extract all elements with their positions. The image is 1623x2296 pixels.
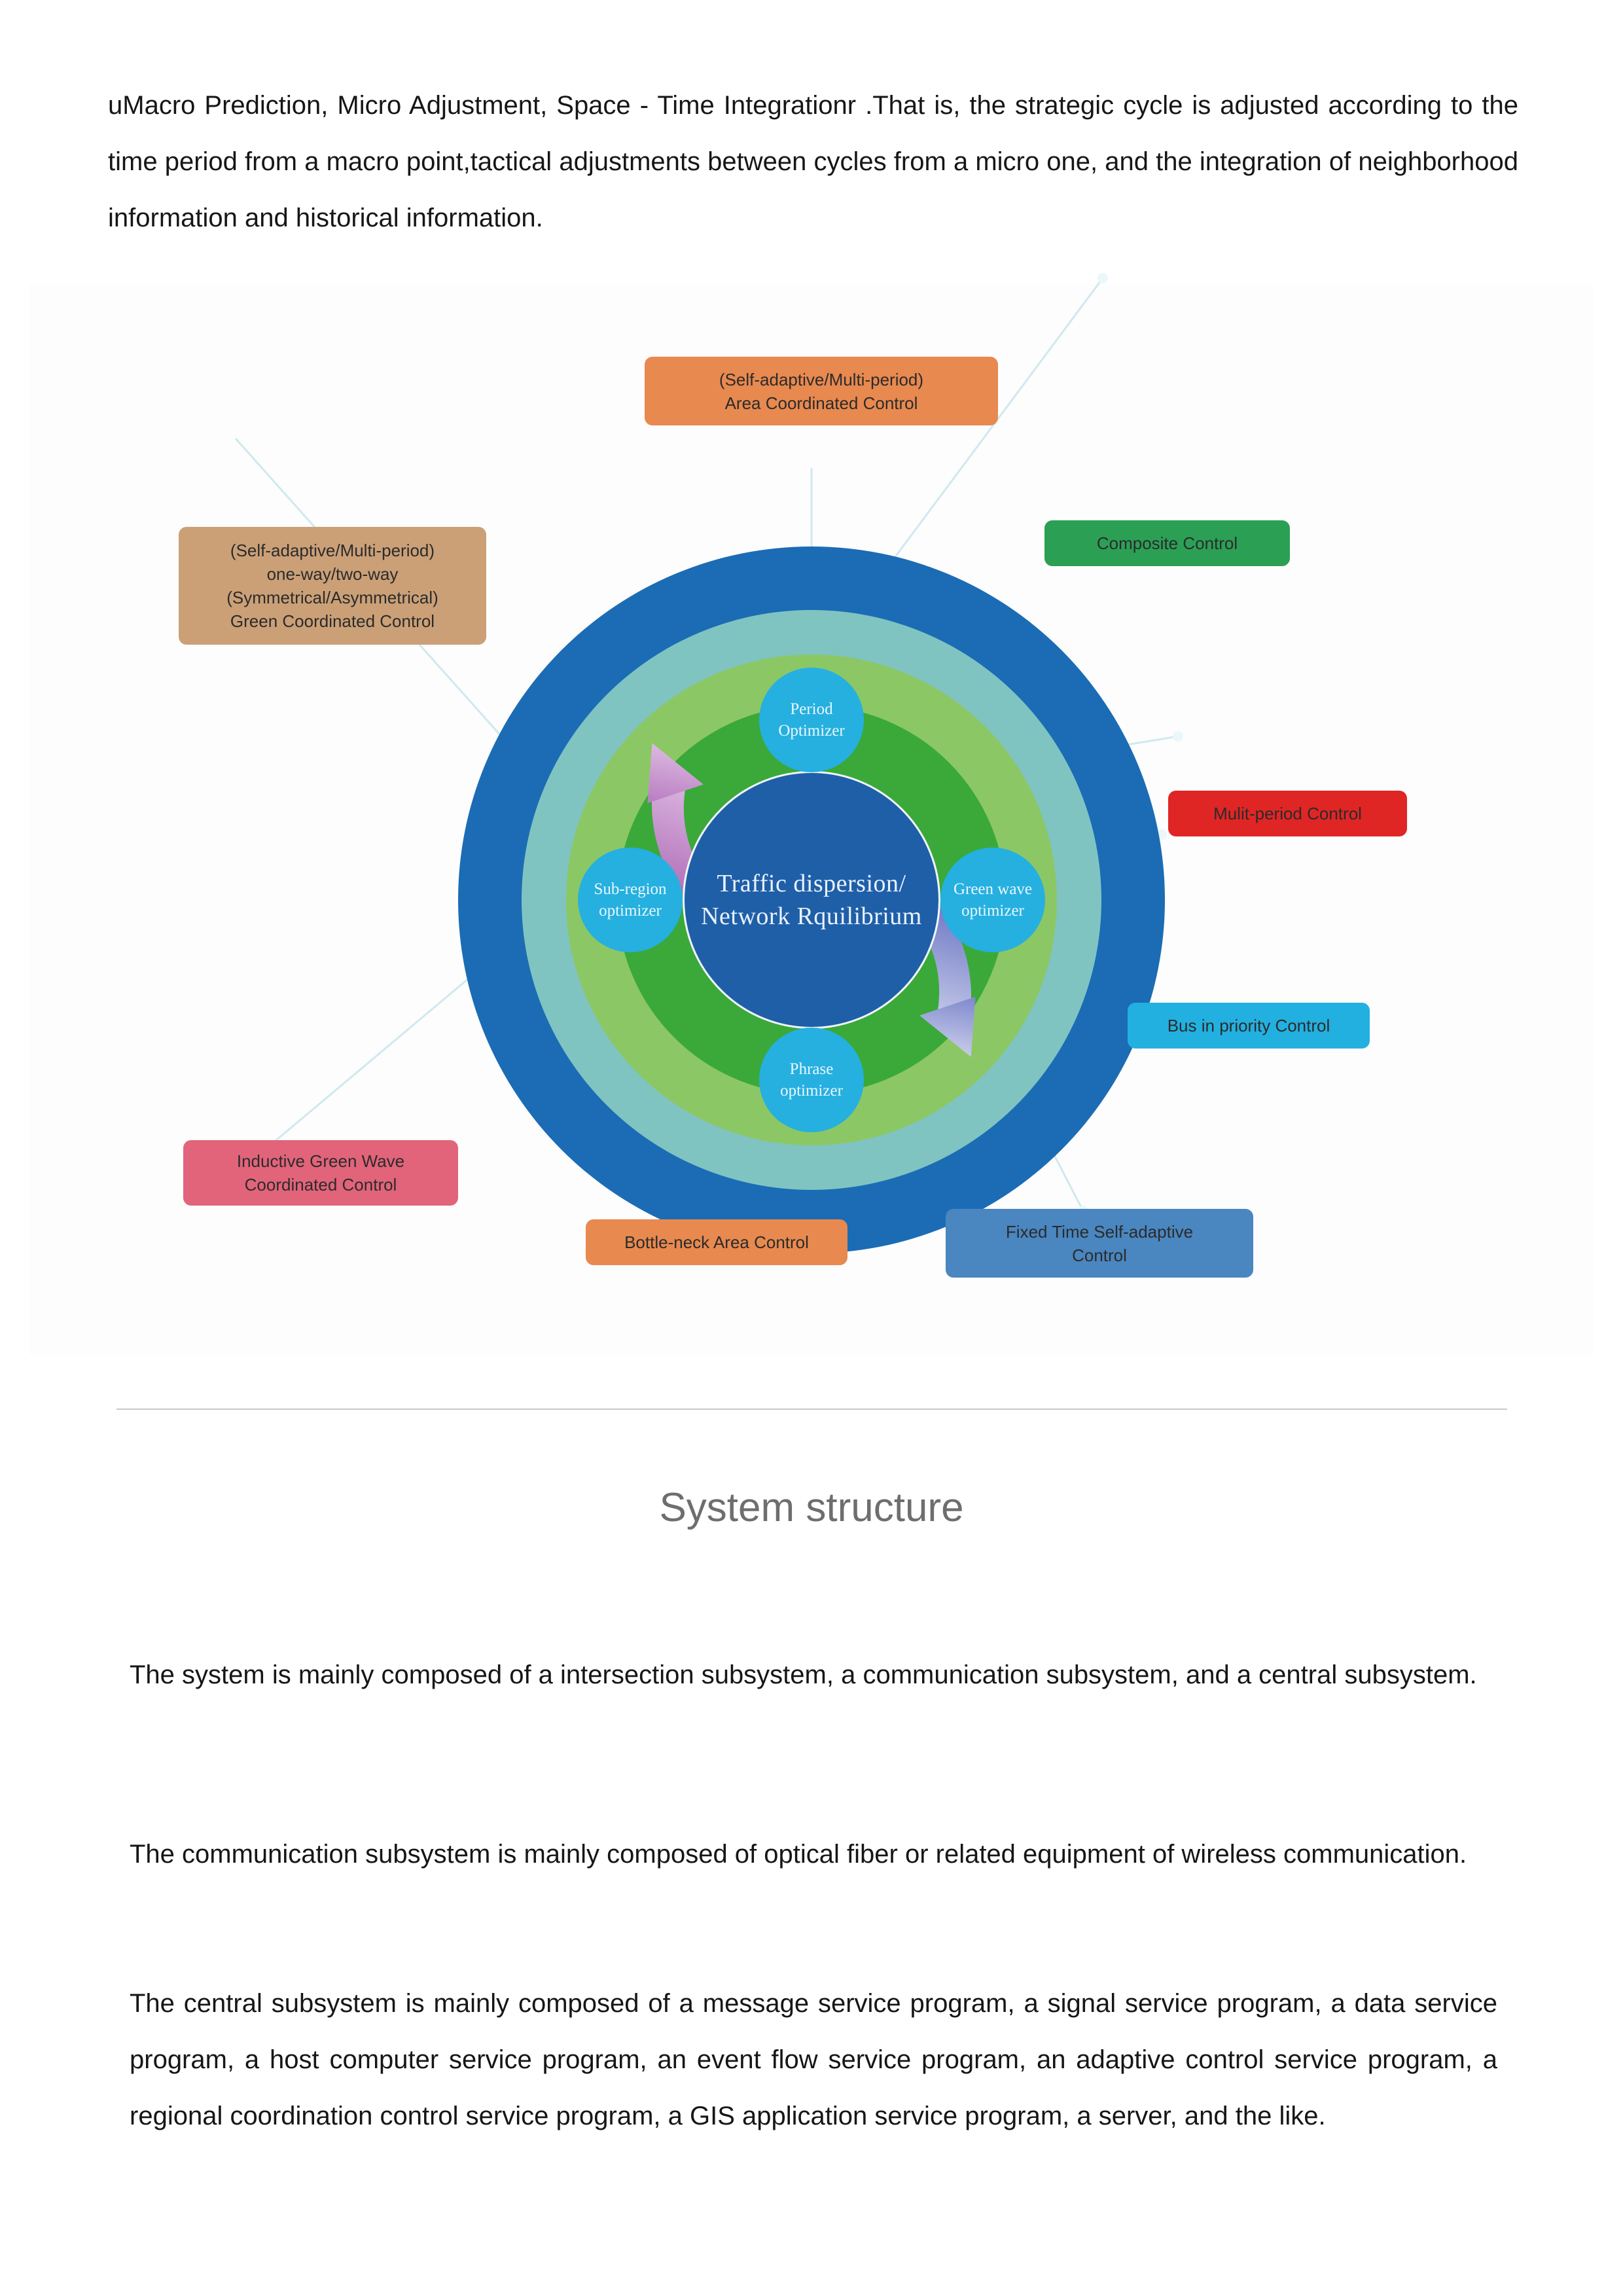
bubble-green-wave-optimizer-line2: optimizer (954, 900, 1032, 922)
bubble-sub-region-optimizer[interactable]: Sub-region optimizer (578, 848, 683, 952)
label-inductive-green-wave-line1: Inductive Green Wave (237, 1149, 404, 1173)
body-paragraph-1: The system is mainly composed of a inter… (130, 1647, 1497, 1703)
bubble-green-wave-optimizer[interactable]: Green wave optimizer (940, 848, 1045, 952)
label-inductive-green-wave-line2: Coordinated Control (237, 1173, 404, 1196)
system-control-wheel-diagram: Traffic dispersion/ Network Rquilibrium … (29, 285, 1594, 1355)
label-green-coordinated-control-line3: (Symmetrical/Asymmetrical) (226, 586, 438, 609)
label-mulit-period-control-line1: Mulit-period Control (1213, 802, 1362, 825)
bubble-phrase-optimizer[interactable]: Phrase optimizer (759, 1028, 864, 1132)
label-green-coordinated-control[interactable]: (Self-adaptive/Multi-period) one-way/two… (179, 527, 486, 645)
label-composite-control[interactable]: Composite Control (1044, 520, 1290, 566)
bubble-sub-region-optimizer-line1: Sub-region (594, 878, 666, 900)
label-area-coordinated-control-line2: Area Coordinated Control (719, 391, 923, 415)
label-composite-control-line1: Composite Control (1097, 531, 1238, 555)
label-green-coordinated-control-line4: Green Coordinated Control (226, 609, 438, 633)
core-label: Traffic dispersion/ Network Rquilibrium (701, 867, 922, 933)
bubble-period-optimizer[interactable]: Period Optimizer (759, 668, 864, 772)
label-area-coordinated-control-line1: (Self-adaptive/Multi-period) (719, 368, 923, 391)
label-green-coordinated-control-line1: (Self-adaptive/Multi-period) (226, 539, 438, 562)
section-divider (116, 1408, 1507, 1410)
label-fixed-time-self-adaptive-control-line1: Fixed Time Self-adaptive (1006, 1220, 1193, 1244)
label-area-coordinated-control[interactable]: (Self-adaptive/Multi-period) Area Coordi… (645, 357, 998, 425)
bubble-period-optimizer-line1: Period (778, 698, 844, 720)
bubble-green-wave-optimizer-line1: Green wave (954, 878, 1032, 900)
bubble-phrase-optimizer-line1: Phrase (780, 1058, 843, 1080)
label-inductive-green-wave-coordinated-control[interactable]: Inductive Green Wave Coordinated Control (183, 1140, 458, 1206)
label-fixed-time-self-adaptive-control[interactable]: Fixed Time Self-adaptive Control (946, 1209, 1253, 1278)
core-label-line1: Traffic dispersion/ (701, 867, 922, 900)
label-bus-in-priority-control[interactable]: Bus in priority Control (1128, 1003, 1370, 1049)
top-paragraph: uMacro Prediction, Micro Adjustment, Spa… (108, 77, 1518, 246)
bubble-period-optimizer-line2: Optimizer (778, 720, 844, 742)
page-title: System structure (0, 1484, 1623, 1531)
label-bottle-neck-area-control-line1: Bottle-neck Area Control (624, 1230, 809, 1254)
body-paragraph-2: The communication subsystem is mainly co… (130, 1826, 1497, 1882)
core-label-line2: Network Rquilibrium (701, 900, 922, 933)
label-bottle-neck-area-control[interactable]: Bottle-neck Area Control (586, 1219, 847, 1265)
bubble-sub-region-optimizer-line2: optimizer (594, 900, 666, 922)
label-fixed-time-self-adaptive-control-line2: Control (1006, 1244, 1193, 1267)
label-green-coordinated-control-line2: one-way/two-way (226, 562, 438, 586)
concentric-ring-group: Traffic dispersion/ Network Rquilibrium … (458, 547, 1165, 1253)
body-paragraph-3: The central subsystem is mainly composed… (130, 1975, 1497, 2144)
core-circle: Traffic dispersion/ Network Rquilibrium (683, 771, 940, 1029)
label-mulit-period-control[interactable]: Mulit-period Control (1168, 791, 1407, 836)
bubble-phrase-optimizer-line2: optimizer (780, 1080, 843, 1102)
label-bus-in-priority-control-line1: Bus in priority Control (1168, 1014, 1330, 1037)
